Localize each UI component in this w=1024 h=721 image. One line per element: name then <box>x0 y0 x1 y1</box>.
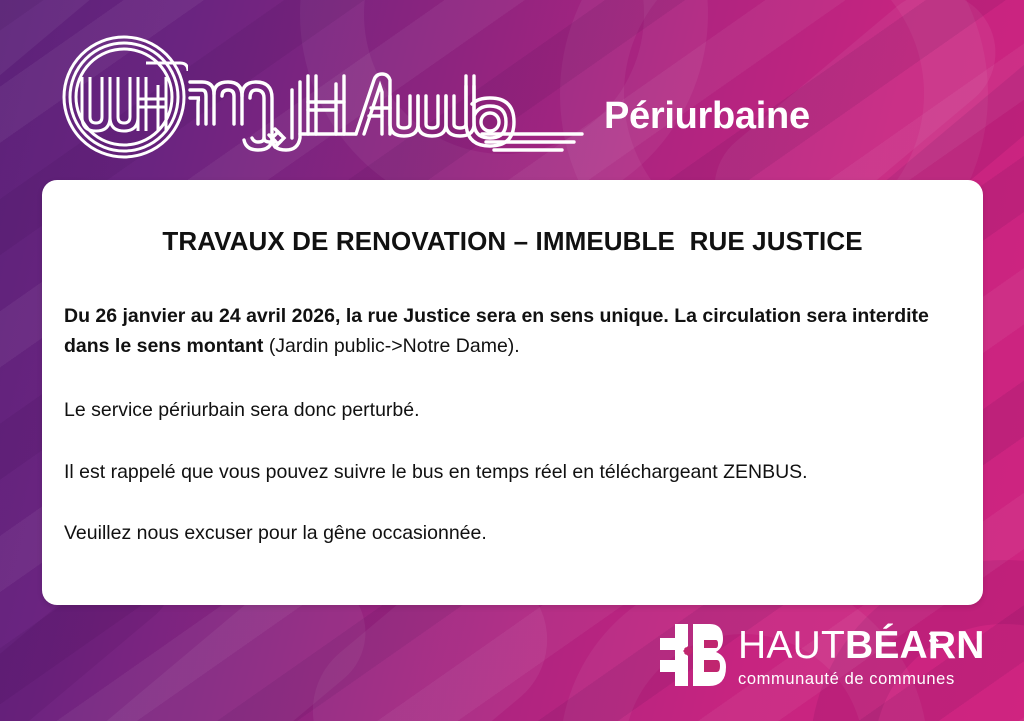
notice-paragraph-4: Veuillez nous excuser pour la gêne occas… <box>64 518 961 548</box>
service-label: Périurbaine <box>604 97 810 135</box>
haut-bearn-name-bold: BÉARN <box>845 624 985 667</box>
notice-card: TRAVAUX DE RENOVATION – IMMEUBLE RUE JUS… <box>42 180 983 605</box>
notice-paragraph-2: Le service périurbain sera donc perturbé… <box>64 395 961 425</box>
notice-title: TRAVAUX DE RENOVATION – IMMEUBLE RUE JUS… <box>64 226 961 257</box>
haut-bearn-name-light: HAUT <box>738 624 845 667</box>
poster-header: Périurbaine <box>0 0 1024 180</box>
haut-bearn-logo: HAUTBÉARN communauté de communes × <box>660 622 970 696</box>
poster-canvas: Périurbaine TRAVAUX DE RENOVATION – IMME… <box>0 0 1024 721</box>
vh-monogram-icon <box>60 33 188 161</box>
hb-monogram-icon <box>660 624 726 686</box>
notice-paragraph-1-regular: (Jardin public->Notre Dame). <box>269 335 520 357</box>
notice-body: Du 26 janvier au 24 avril 2026, la rue J… <box>64 301 961 548</box>
mjhaub-wordmark-icon <box>186 46 596 156</box>
notice-paragraph-1: Du 26 janvier au 24 avril 2026, la rue J… <box>64 301 961 361</box>
haut-bearn-tagline: communauté de communes <box>738 670 985 689</box>
notice-paragraph-3: Il est rappelé que vous pouvez suivre le… <box>64 457 961 487</box>
haut-bearn-name: HAUTBÉARN <box>738 626 985 665</box>
haut-bearn-wordmark: HAUTBÉARN communauté de communes <box>738 626 985 689</box>
cross-icon: × <box>928 628 940 648</box>
